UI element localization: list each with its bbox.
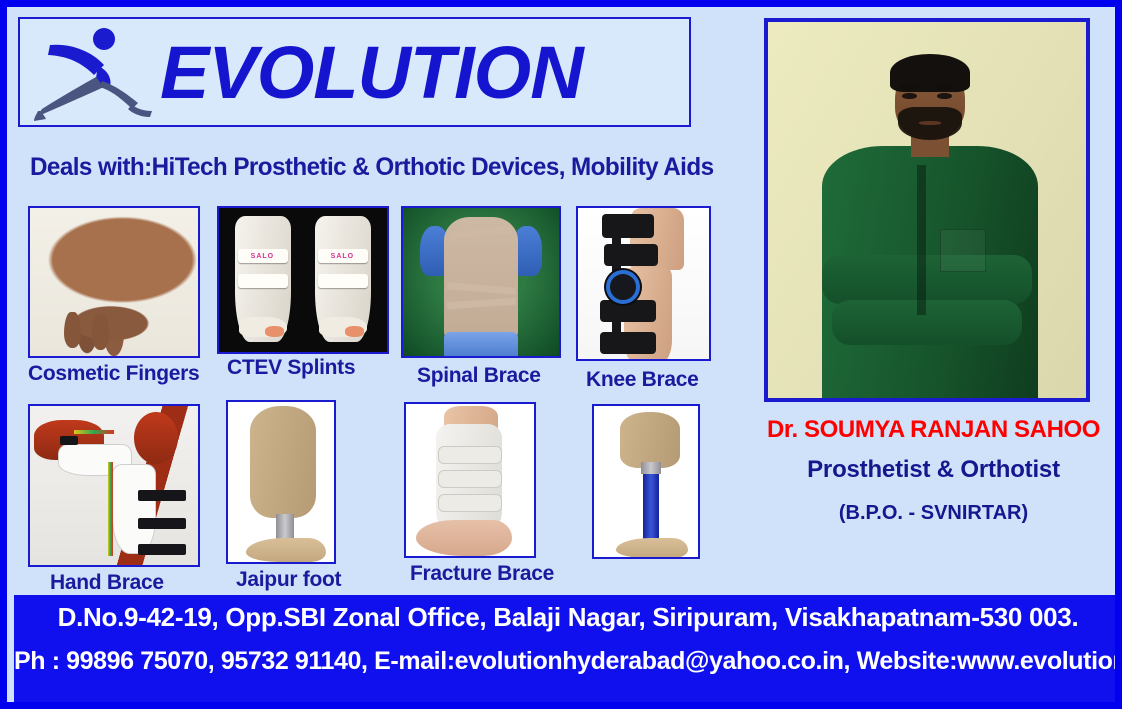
- product-tile-jaipur-foot[interactable]: Jaipur foot: [226, 400, 404, 595]
- doctor-qualification: (B.P.O. - SVNIRTAR): [745, 502, 1122, 525]
- product-tile-modular-limb[interactable]: [592, 404, 732, 579]
- product-tile-spinal-brace[interactable]: Spinal Brace: [401, 206, 579, 418]
- product-tile-cosmetic-fingers[interactable]: Cosmetic Fingers: [28, 206, 206, 416]
- product-image-jaipur-foot: [226, 400, 336, 564]
- product-image-knee-brace: [576, 206, 711, 361]
- tagline: Deals with:HiTech Prosthetic & Orthotic …: [30, 153, 709, 182]
- product-image-cosmetic-fingers: [28, 206, 200, 358]
- product-label-jaipur-foot: Jaipur foot: [236, 568, 341, 592]
- product-image-hand-brace: [28, 404, 200, 567]
- product-image-fracture-brace: [404, 402, 536, 558]
- footer-bar: D.No.9-42-19, Opp.SBI Zonal Office, Bala…: [14, 595, 1122, 709]
- right-panel: Dr. SOUMYA RANJAN SAHOO Prosthetist & Or…: [745, 14, 1122, 589]
- product-label-hand-brace: Hand Brace: [50, 571, 164, 595]
- product-label-knee-brace: Knee Brace: [586, 368, 699, 392]
- logo-box: EVOLUTION: [18, 17, 691, 127]
- doctor-name: Dr. SOUMYA RANJAN SAHOO: [745, 416, 1122, 444]
- business-card: EVOLUTION Deals with:HiTech Prosthetic &…: [0, 0, 1122, 709]
- product-tile-fracture-brace[interactable]: Fracture Brace: [404, 402, 582, 597]
- running-figure-with-prosthetic-leg-icon: [34, 25, 154, 125]
- product-label-ctev-splints: CTEV Splints: [227, 356, 355, 380]
- product-image-spinal-brace: [401, 206, 561, 358]
- product-tile-hand-brace[interactable]: Hand Brace: [28, 404, 206, 594]
- product-image-ctev-splints: SALO SALO: [217, 206, 389, 354]
- product-label-fracture-brace: Fracture Brace: [410, 562, 554, 586]
- footer-address: D.No.9-42-19, Opp.SBI Zonal Office, Bala…: [14, 602, 1122, 633]
- product-label-spinal-brace: Spinal Brace: [417, 364, 541, 388]
- doctor-photo: [764, 18, 1090, 402]
- doctor-role: Prosthetist & Orthotist: [745, 456, 1122, 484]
- product-label-cosmetic-fingers: Cosmetic Fingers: [28, 362, 199, 386]
- product-image-modular-limb: [592, 404, 700, 559]
- product-tile-knee-brace[interactable]: Knee Brace: [576, 206, 736, 421]
- brand-wordmark: EVOLUTION: [160, 21, 583, 125]
- footer-contact: Ph : 99896 75070, 95732 91140, E-mail:ev…: [14, 647, 1122, 676]
- left-panel: EVOLUTION Deals with:HiTech Prosthetic &…: [14, 14, 737, 589]
- product-tile-ctev-splints[interactable]: SALO SALO CTEV Splints: [217, 206, 395, 416]
